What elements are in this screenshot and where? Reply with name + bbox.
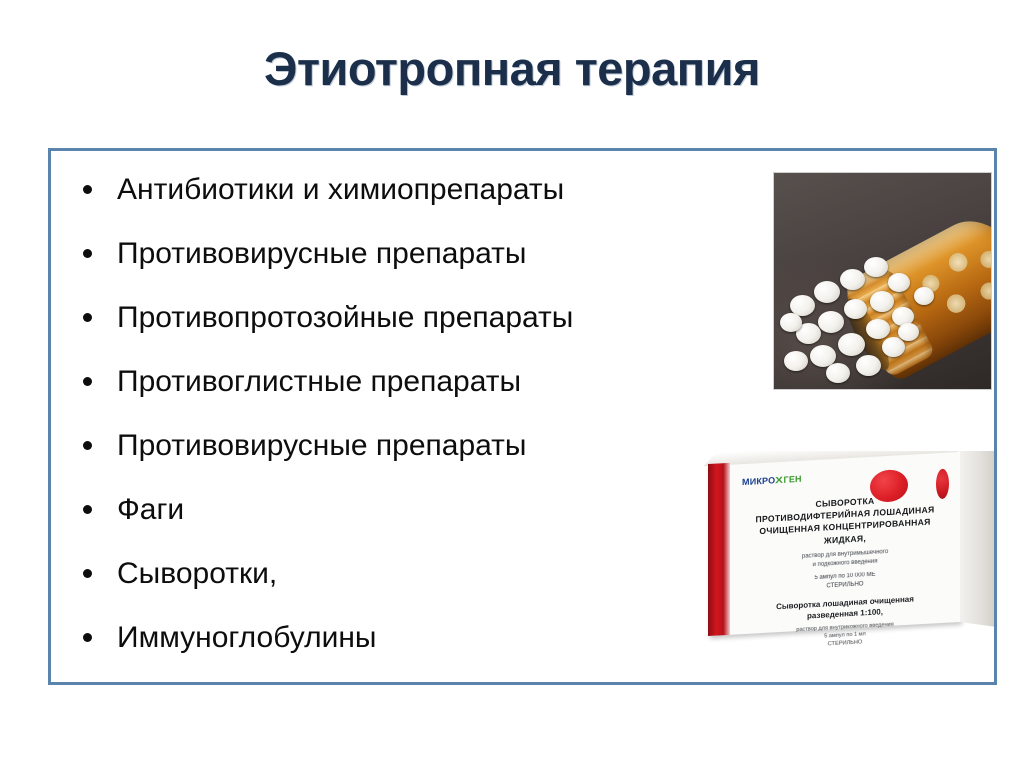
slide: Этиотропная терапия Антибиотики и химиоп… bbox=[0, 0, 1024, 767]
list-item: Антибиотики и химиопрепараты bbox=[65, 157, 765, 221]
list-item: Сыворотки, bbox=[65, 541, 765, 605]
list-item-label: Фаги bbox=[117, 478, 184, 542]
carton-label-text: СЫВОРОТКА ПРОТИВОДИФТЕРИЙНАЯ ЛОШАДИНАЯ О… bbox=[734, 490, 956, 654]
bullet-dot-icon bbox=[83, 505, 92, 514]
microgen-logo: МИКРОХГЕН bbox=[742, 474, 802, 487]
carton-title-block: СЫВОРОТКА ПРОТИВОДИФТЕРИЙНАЯ ЛОШАДИНАЯ О… bbox=[734, 490, 956, 551]
list-item-label: Сыворотки, bbox=[117, 542, 277, 606]
list-item-label: Противовирусные препараты bbox=[117, 414, 526, 478]
list-item: Противовирусные препараты bbox=[65, 221, 765, 285]
list-item: Противопротозойные препараты bbox=[65, 285, 765, 349]
list-item-label: Антибиотики и химиопрепараты bbox=[117, 158, 564, 222]
list-item: Фаги bbox=[65, 477, 765, 541]
treatment-bullet-list: Антибиотики и химиопрепараты Противовиру… bbox=[65, 157, 765, 669]
list-item-label: Противопротозойные препараты bbox=[117, 286, 573, 350]
content-frame: Антибиотики и химиопрепараты Противовиру… bbox=[48, 148, 997, 685]
serum-carton: МИКРОХГЕН СЫВОРОТКА ПРОТИВОДИФТЕРИЙНАЯ Л… bbox=[708, 451, 960, 636]
logo-mark-icon: Х bbox=[775, 475, 783, 485]
logo-text-green: ГЕН bbox=[784, 474, 802, 485]
list-item: Противоглистные препараты bbox=[65, 349, 765, 413]
carton-red-spine bbox=[708, 463, 730, 636]
carton-side-face bbox=[960, 451, 994, 627]
bullet-dot-icon bbox=[83, 313, 92, 322]
page-title: Этиотропная терапия bbox=[0, 44, 1024, 93]
carton-top-face bbox=[703, 451, 970, 466]
list-item-label: Иммуноглобулины bbox=[117, 606, 376, 670]
list-item: Противовирусные препараты bbox=[65, 413, 765, 477]
logo-text-blue: МИКРО bbox=[742, 475, 775, 487]
spilled-pill-pile bbox=[778, 251, 954, 387]
pills-photo bbox=[773, 172, 992, 390]
bullet-dot-icon bbox=[83, 441, 92, 450]
serum-box-photo: МИКРОХГЕН СЫВОРОТКА ПРОТИВОДИФТЕРИЙНАЯ Л… bbox=[696, 451, 996, 669]
list-item-label: Противоглистные препараты bbox=[117, 350, 521, 414]
bullet-dot-icon bbox=[83, 633, 92, 642]
list-item: Иммуноглобулины bbox=[65, 605, 765, 669]
bullet-dot-icon bbox=[83, 377, 92, 386]
bullet-dot-icon bbox=[83, 185, 92, 194]
bullet-dot-icon bbox=[83, 249, 92, 258]
list-item-label: Противовирусные препараты bbox=[117, 222, 526, 286]
bullet-dot-icon bbox=[83, 569, 92, 578]
